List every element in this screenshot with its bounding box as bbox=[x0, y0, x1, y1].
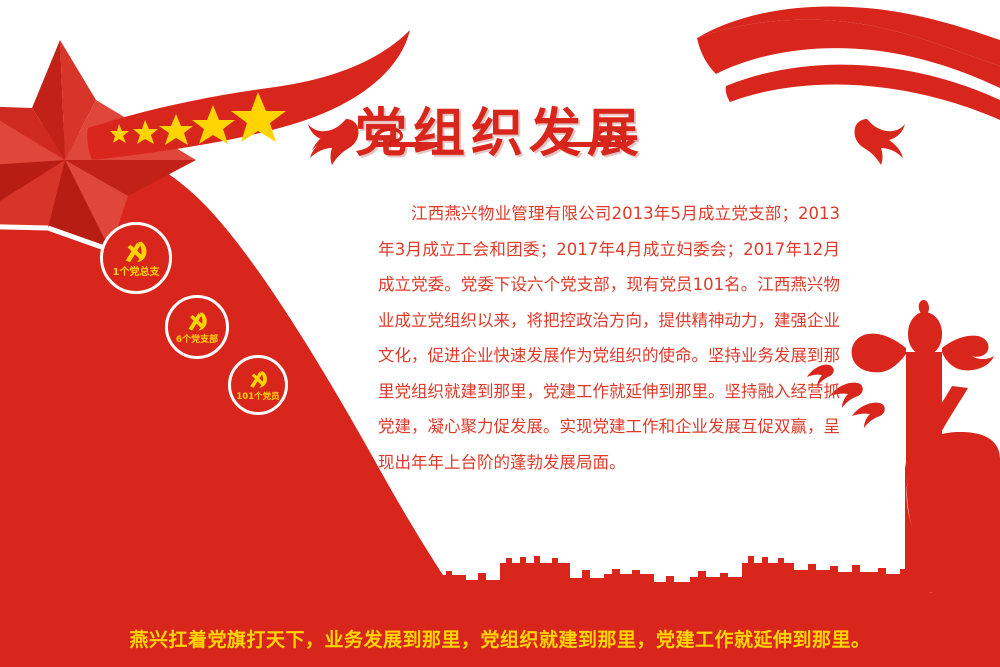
dove-icon-right bbox=[854, 119, 905, 165]
badge-label: 101个党员 bbox=[236, 393, 279, 402]
slogan-text: 燕兴扛着党旗打天下，业务发展到那里，党组织就建到那里，党建工作就延伸到那里。 bbox=[129, 625, 870, 652]
party-emblem-icon bbox=[121, 239, 151, 265]
bottom-slogan-banner: 燕兴扛着党旗打天下，业务发展到那里，党组织就建到那里，党建工作就延伸到那里。 bbox=[0, 610, 1000, 667]
body-paragraph: 江西燕兴物业管理有限公司2013年5月成立党支部；2013年3月成立工会和团委；… bbox=[378, 196, 840, 480]
party-emblem-icon bbox=[246, 369, 271, 390]
top-right-ribbon bbox=[697, 6, 1000, 120]
badge-party-members[interactable]: 101个党员 bbox=[228, 355, 288, 415]
party-emblem-icon bbox=[184, 310, 211, 333]
badge-party-general-branch[interactable]: 1个党总支 bbox=[100, 222, 172, 294]
badge-label: 1个党总支 bbox=[113, 268, 160, 278]
cloud-motif-left bbox=[374, 127, 442, 147]
poster-canvas: 党组织发展 江西燕兴物业管理有限公司2013年5月成立党支部；2013年3月成立… bbox=[0, 0, 1000, 667]
star-white-edge-2 bbox=[0, 226, 48, 228]
badge-label: 6个党支部 bbox=[176, 336, 218, 345]
badge-party-branches[interactable]: 6个党支部 bbox=[165, 295, 229, 359]
cloud-motif-right bbox=[558, 127, 626, 147]
